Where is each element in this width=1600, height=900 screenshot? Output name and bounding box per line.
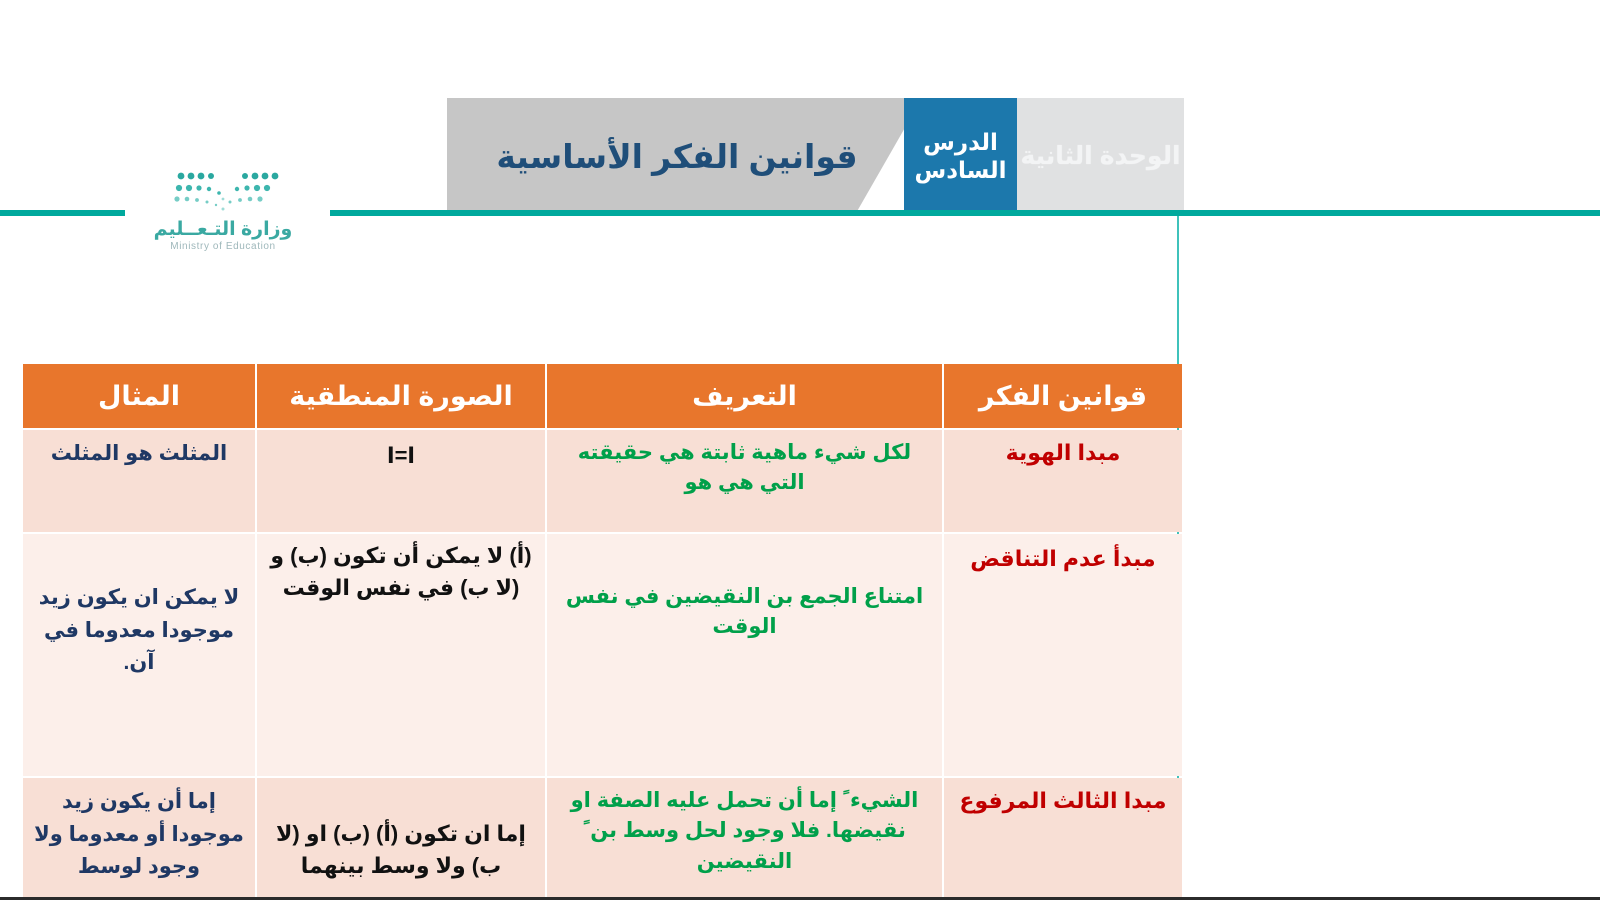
lesson-tab-line2: السادس <box>914 156 1006 184</box>
unit-tab-label: الوحدة الثانية <box>1020 141 1180 171</box>
slide-title-container: قوانين الفكر الأساسية <box>447 98 907 214</box>
cell-logical-form-non-contradiction: (أ) لا يمكن أن تكون (ب) و (لا ب) في نفس … <box>257 534 545 776</box>
lesson-tab[interactable]: الدرس السادس <box>904 98 1017 214</box>
lesson-tab-line1: الدرس <box>923 128 998 156</box>
teal-rule-right <box>330 210 1600 216</box>
slide-canvas: قوانين الفكر الأساسية الدرس السادس الوحد… <box>0 0 1600 900</box>
column-header-example: المثال <box>23 364 255 428</box>
cell-logical-form-identity: ا=ا <box>257 430 545 532</box>
moe-logo-name-en: Ministry of Education <box>170 242 275 252</box>
table-row: مبدأ عدم التناقض امتناع الجمع بن النقيضي… <box>23 534 1182 776</box>
cell-example-excluded-middle: إما أن يكون زيد موجودا أو معدوما ولا وجو… <box>23 778 255 900</box>
column-header-definition: التعريف <box>547 364 942 428</box>
cell-definition-excluded-middle: الشيء ً إما أن تحمل عليه الصفة او نقيضها… <box>547 778 942 900</box>
laws-of-thought-table: قوانين الفكر التعريف الصورة المنطقية الم… <box>21 362 1184 900</box>
cell-logical-form-excluded-middle: إما ان تكون (أ) (ب) او (لا ب) ولا وسط بي… <box>257 778 545 900</box>
cell-law-identity: مبدا الهوية <box>944 430 1182 532</box>
cell-definition-non-contradiction: امتناع الجمع بن النقيضين في نفس الوقت <box>547 534 942 776</box>
table-row: مبدا الهوية لكل شيء ماهية ثابتة هي حقيقت… <box>23 430 1182 532</box>
cell-law-excluded-middle: مبدا الثالث المرفوع <box>944 778 1182 900</box>
moe-logo-name-ar: وزارة التـعــليم <box>154 220 293 239</box>
cell-law-non-contradiction: مبدأ عدم التناقض <box>944 534 1182 776</box>
teal-rule-left <box>0 210 125 216</box>
ministry-of-education-logo: وزارة التـعــليم Ministry of Education <box>133 168 313 278</box>
column-header-law: قوانين الفكر <box>944 364 1182 428</box>
table-row: مبدا الثالث المرفوع الشيء ً إما أن تحمل … <box>23 778 1182 900</box>
moe-palm-dots-icon <box>153 168 293 218</box>
cell-example-non-contradiction: لا يمكن ان يكون زيد موجودا معدوما في آن. <box>23 534 255 776</box>
cell-example-identity: المثلث هو المثلث <box>23 430 255 532</box>
page-title: قوانين الفكر الأساسية <box>496 137 857 176</box>
cell-definition-identity: لكل شيء ماهية ثابتة هي حقيقته التي هي هو <box>547 430 942 532</box>
unit-tab[interactable]: الوحدة الثانية <box>1017 98 1184 214</box>
table-header-row: قوانين الفكر التعريف الصورة المنطقية الم… <box>23 364 1182 428</box>
column-header-logical-form: الصورة المنطقية <box>257 364 545 428</box>
